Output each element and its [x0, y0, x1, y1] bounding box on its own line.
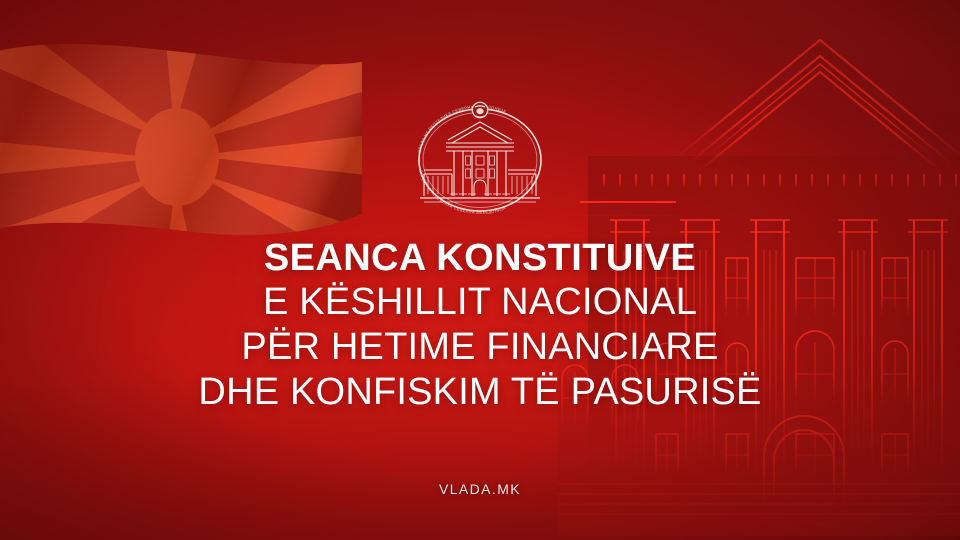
emblem-wing-colonnade [428, 176, 532, 194]
svg-text:ВЛАДА НА РЕПУБЛИКА СЕВЕРНА МАК: ВЛАДА НА РЕПУБЛИКА СЕВЕРНА МАКЕДОНИЈА [417, 104, 507, 153]
headline: SEANCA KONSTITUIVE E KËSHILLIT NACIONAL … [0, 236, 960, 415]
government-of-north-macedonia-emblem: ВЛАДА НА РЕПУБЛИКА СЕВЕРНА МАКЕДОНИЈА ВЛ… [406, 98, 554, 220]
headline-line-4: DHE KONFISKIM TË PASURISË [0, 370, 960, 415]
announcement-banner: ВЛАДА НА РЕПУБЛИКА СЕВЕРНА МАКЕДОНИЈА ВЛ… [0, 0, 960, 540]
emblem-building-windows [466, 156, 495, 178]
emblem-building [420, 122, 540, 202]
website-url: VLADA.MK [0, 481, 960, 497]
headline-line-1: SEANCA KONSTITUIVE [0, 236, 960, 280]
emblem-crest-medallion [472, 102, 489, 119]
headline-line-3: PËR HETIME FINANCIARE [0, 325, 960, 370]
headline-line-2: E KËSHILLIT NACIONAL [0, 280, 960, 325]
